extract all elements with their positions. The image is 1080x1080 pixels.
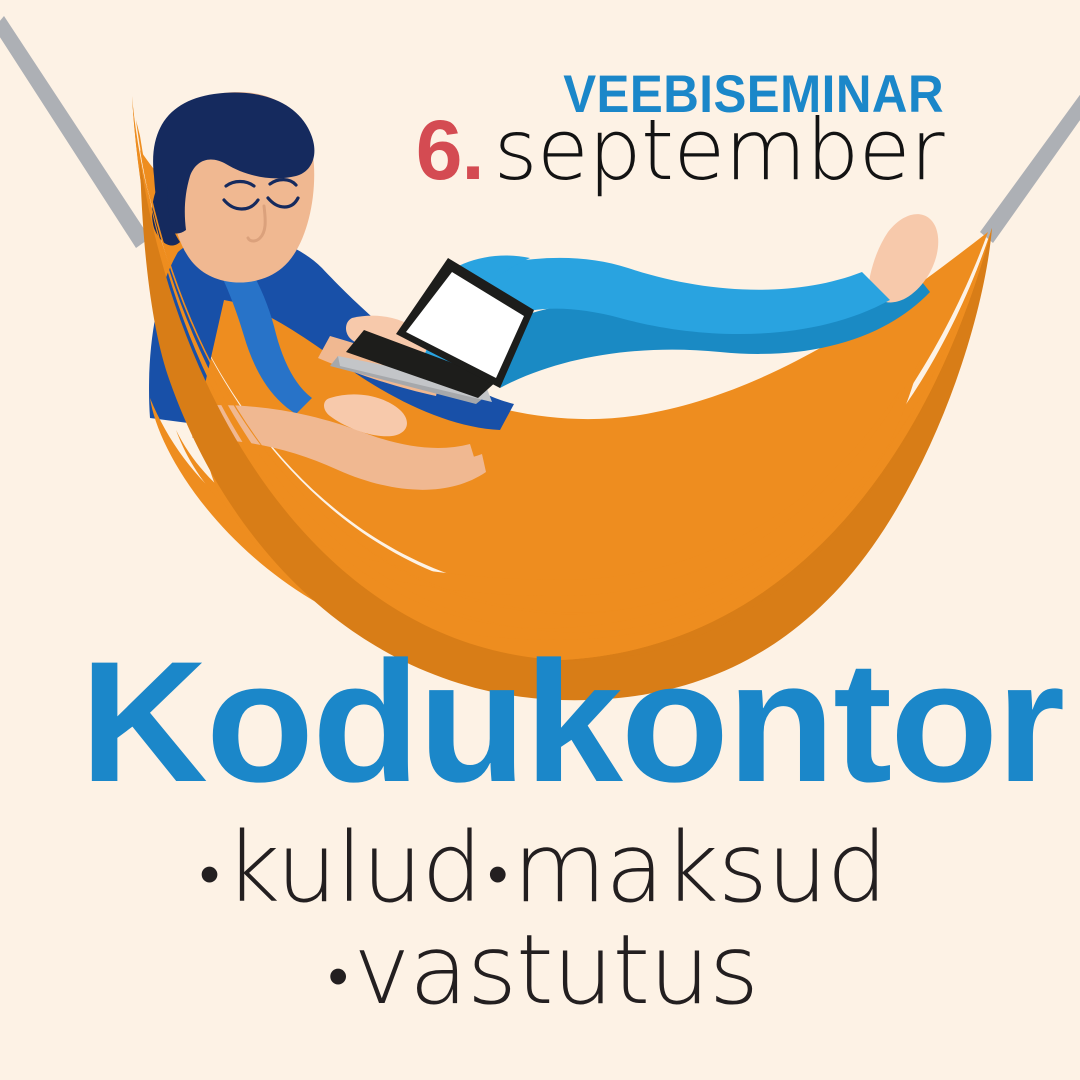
bullet-dot-icon: •	[193, 840, 224, 908]
date-month: september	[494, 101, 944, 199]
bullet-dot-icon: •	[322, 942, 353, 1010]
date-line: 6.september	[0, 108, 944, 192]
bullet-line-2: •vastutus	[0, 922, 1080, 1018]
bullet-line-1: •kulud•maksud	[0, 820, 1080, 916]
poster-canvas: VEEBISEMINAR 6.september Kodukontor: •ku…	[0, 0, 1080, 1080]
bullet-item-maksud: maksud	[513, 812, 887, 924]
bullet-dot-icon: •	[482, 840, 513, 908]
page-title: Kodukontor:	[80, 636, 1080, 808]
date-number: 6.	[416, 103, 484, 197]
bullet-item-vastutus: vastutus	[353, 914, 758, 1026]
bullet-item-kulud: kulud	[225, 812, 482, 924]
